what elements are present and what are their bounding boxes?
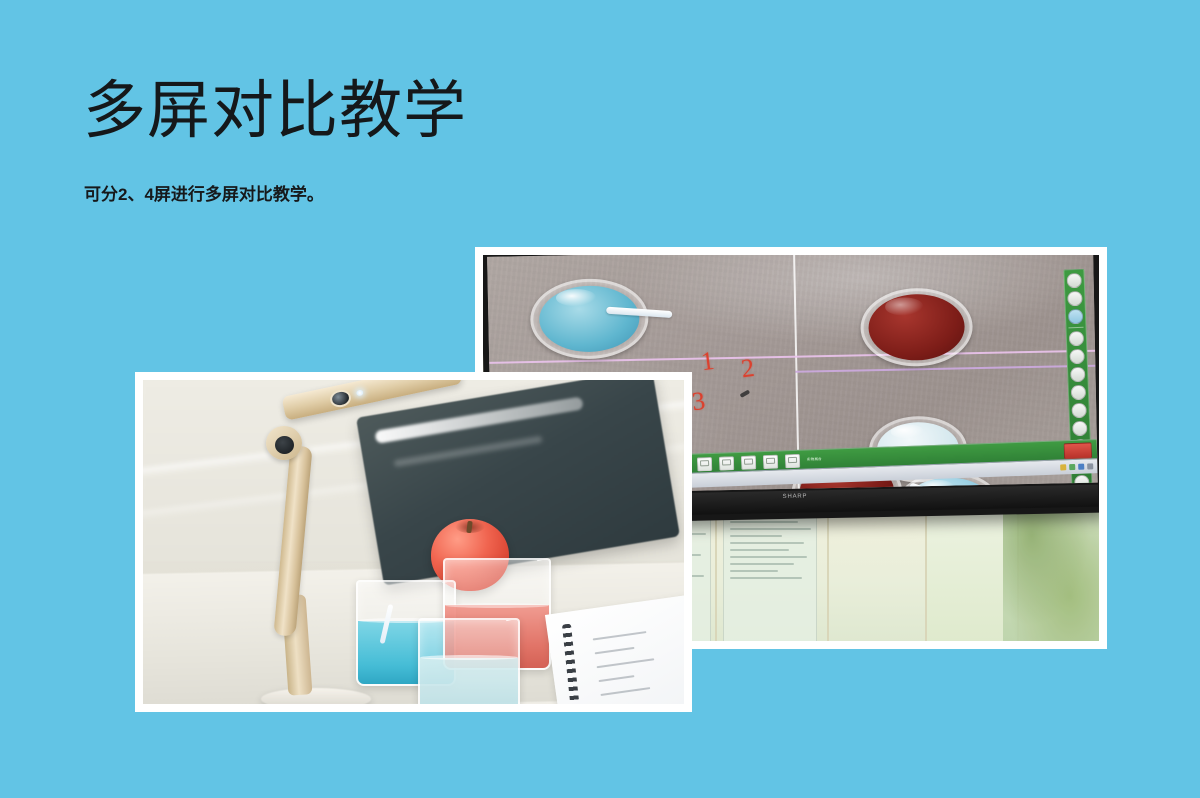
beaker-spout-2 (537, 558, 551, 571)
wall-poster-3 (723, 515, 817, 641)
beaker-liquid-clear (420, 658, 518, 704)
screen-icon[interactable] (785, 453, 800, 468)
grid-icon[interactable] (719, 456, 734, 471)
system-tray[interactable] (1060, 463, 1093, 470)
beaker-clear (418, 618, 520, 704)
toolbar-separator (1069, 327, 1084, 329)
tray-icon-4[interactable] (1087, 463, 1093, 469)
hinge-cap-icon (275, 436, 294, 454)
worksheet-line (600, 687, 650, 696)
screen-glare-secondary (394, 436, 543, 468)
visualizer-base (261, 688, 371, 704)
worksheet-line (593, 631, 647, 640)
camera-lens-icon (329, 388, 353, 409)
focus-icon[interactable] (1068, 309, 1084, 325)
slide-canvas: 多屏对比教学 可分2、4屏进行多屏对比教学。 (0, 0, 1200, 798)
worksheet-line (597, 658, 655, 668)
toolbar-label: 实物展台 (807, 457, 822, 463)
tray-icon-1[interactable] (1060, 464, 1066, 470)
spiral-binding-icon (562, 624, 580, 704)
circle-icon[interactable] (1067, 291, 1083, 307)
palette-icon[interactable] (1072, 421, 1088, 437)
shape-icon[interactable] (1071, 403, 1087, 419)
visualizer-hinge (266, 426, 302, 460)
exit-button[interactable] (1064, 442, 1093, 459)
brand-label: SHARP (783, 494, 808, 500)
beaker-spout-3 (506, 618, 520, 631)
tray-icon-2[interactable] (1069, 464, 1075, 470)
visualizer-photo-frame (135, 372, 692, 712)
page-title: 多屏对比教学 (83, 80, 467, 143)
desk-scene (143, 380, 684, 704)
clear-icon[interactable] (1071, 385, 1087, 401)
visualizer-photo-image (143, 380, 684, 704)
beaker-meniscus-2 (445, 603, 549, 608)
camera-icon[interactable] (1066, 273, 1082, 289)
note-icon[interactable] (763, 454, 778, 469)
worksheet-line (595, 647, 635, 655)
worksheet-line (599, 675, 635, 682)
page-subtitle: 可分2、4屏进行多屏对比教学。 (84, 183, 324, 207)
pen-icon[interactable] (1069, 331, 1085, 347)
crop-icon[interactable] (697, 456, 712, 471)
page-icon[interactable] (741, 455, 756, 470)
led-indicator-icon (356, 389, 364, 396)
eraser-icon[interactable] (1069, 349, 1085, 365)
tray-icon-3[interactable] (1078, 464, 1084, 470)
highlighter-icon[interactable] (1070, 367, 1086, 383)
